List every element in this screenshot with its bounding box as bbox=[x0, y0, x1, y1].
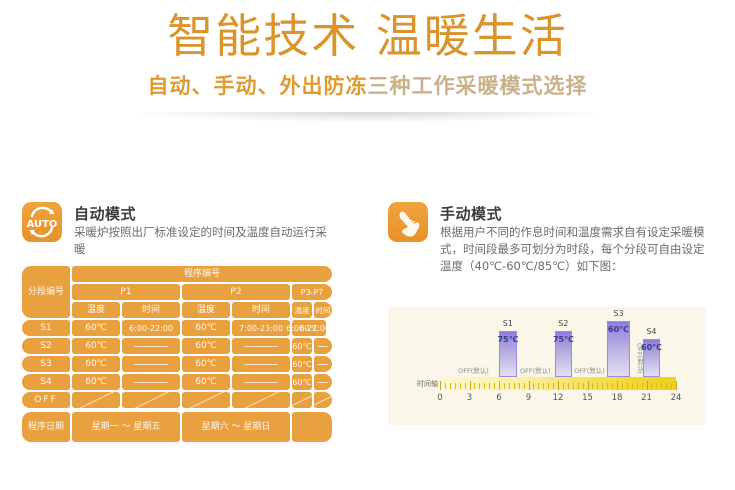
manual-mode-title: 手动模式 bbox=[440, 203, 502, 224]
axis-tick bbox=[583, 383, 584, 389]
table-cell-empty bbox=[314, 374, 332, 390]
axis-tick bbox=[563, 383, 564, 389]
header-shadow-divider bbox=[135, 112, 605, 122]
axis-tick bbox=[474, 383, 475, 389]
chart-bar-value: 60℃ bbox=[608, 325, 629, 376]
table-cell-slashed bbox=[232, 392, 290, 408]
axis-tick bbox=[543, 383, 544, 389]
table-header-program-group: 程序编号 bbox=[72, 266, 332, 282]
axis-tick bbox=[592, 383, 593, 389]
table-cell-empty bbox=[314, 338, 332, 354]
chart-bar-s1: S175℃ bbox=[499, 331, 517, 377]
axis-tick bbox=[661, 383, 662, 389]
auto-schedule-table: 分段编号 程序编号 P1 P2 P3-P7 温度 时间 温度 时间 温度 时间 … bbox=[22, 266, 332, 444]
chart-bar-s2: S275℃ bbox=[555, 331, 572, 377]
axis-tick bbox=[568, 383, 569, 389]
table-cell-slashed bbox=[122, 392, 180, 408]
table-footer-weekend: 星期六 ～ 星期日 bbox=[182, 412, 290, 442]
table-subheader-time-p3p7: 时间 bbox=[314, 302, 332, 318]
table-row-label-s1: S1 bbox=[22, 320, 70, 336]
table-cell: 6:00-22:00 bbox=[272, 320, 332, 336]
chart-bar-value: 75℃ bbox=[497, 335, 518, 376]
axis-tick-label: 18 bbox=[612, 393, 623, 403]
table-row: S4 60℃ 60℃ 60℃ bbox=[22, 374, 332, 390]
table-row: S3 60℃ 60℃ 60℃ bbox=[22, 356, 332, 372]
table-header-row-top: 分段编号 程序编号 bbox=[22, 266, 332, 282]
axis-tick bbox=[627, 383, 628, 389]
table-cell-empty bbox=[314, 356, 332, 372]
chart-bar-s4: S460℃ bbox=[643, 339, 661, 377]
table-subheader-time-p1: 时间 bbox=[122, 302, 180, 318]
axis-tick bbox=[479, 383, 480, 389]
axis-tick bbox=[494, 383, 495, 389]
chart-bar-name: S3 bbox=[613, 309, 623, 318]
axis-tick bbox=[607, 383, 608, 389]
axis-tick bbox=[588, 381, 589, 390]
subtitle-normal: 三种工作采暖模式选择 bbox=[368, 74, 588, 98]
table-header-row-programs: P1 P2 P3-P7 bbox=[22, 284, 332, 300]
table-cell: 60℃ bbox=[292, 374, 312, 390]
axis-tick bbox=[529, 381, 530, 390]
table-cell-slashed bbox=[292, 392, 312, 408]
subtitle-highlight: 自动、手动、外出防冻 bbox=[148, 74, 368, 98]
table-row: OFF bbox=[22, 392, 332, 408]
table-subheader-temp-p2: 温度 bbox=[182, 302, 230, 318]
table-row-label-off: OFF bbox=[22, 392, 70, 408]
chart-axis-label: 时间轴 bbox=[394, 377, 438, 390]
axis-tick bbox=[489, 383, 490, 389]
table-cell: 6:00-22:00 bbox=[122, 320, 180, 336]
axis-tick bbox=[651, 383, 652, 389]
table-footer-weekdays: 星期一 ～ 星期五 bbox=[72, 412, 180, 442]
table-row: S2 60℃ 60℃ 60℃ bbox=[22, 338, 332, 354]
axis-tick bbox=[465, 383, 466, 389]
axis-tick bbox=[632, 383, 633, 389]
axis-tick-label: 24 bbox=[671, 393, 682, 403]
axis-tick-label: 9 bbox=[526, 393, 531, 403]
axis-tick bbox=[597, 383, 598, 389]
axis-tick-label: 15 bbox=[582, 393, 593, 403]
chart-off-label: OFF(默认) bbox=[574, 365, 605, 375]
axis-tick bbox=[509, 383, 510, 389]
hand-pointer-icon bbox=[388, 202, 428, 242]
axis-tick bbox=[637, 383, 638, 389]
table-header-p3p7: P3-P7 bbox=[292, 284, 332, 300]
axis-tick bbox=[460, 383, 461, 389]
table-subheader-temp-p1: 温度 bbox=[72, 302, 120, 318]
axis-tick bbox=[514, 383, 515, 389]
axis-tick bbox=[558, 381, 559, 390]
manual-mode-description: 根据用户不同的作息时间和温度需求自有设定采暖模式，时间段最多可划分为时段，每个分… bbox=[440, 224, 710, 275]
table-cell-empty bbox=[232, 374, 290, 390]
table-row-label-s4: S4 bbox=[22, 374, 70, 390]
chart-off-label: OFF(默认) bbox=[520, 365, 551, 375]
axis-tick bbox=[440, 381, 441, 390]
axis-tick bbox=[519, 383, 520, 389]
axis-tick-label: 0 bbox=[437, 393, 442, 403]
auto-circular-arrows-icon: AUTO bbox=[22, 202, 62, 242]
axis-tick bbox=[602, 383, 603, 389]
table-subheader-temp-p3p7: 温度 bbox=[292, 302, 312, 318]
table-header-p2: P2 bbox=[182, 284, 290, 300]
table-cell: 60℃ bbox=[182, 338, 230, 354]
axis-tick bbox=[573, 383, 574, 389]
table-cell-slashed bbox=[182, 392, 230, 408]
axis-tick bbox=[533, 383, 534, 389]
chart-bar-s3: S360℃ bbox=[607, 321, 630, 377]
auto-mode-description: 采暖炉按照出厂标准设定的时间及温度自动运行采暖 bbox=[74, 224, 332, 258]
axis-tick bbox=[647, 381, 648, 390]
table-subheader-time-p2: 时间 bbox=[232, 302, 290, 318]
table-cell-slashed bbox=[72, 392, 120, 408]
chart-time-axis-bar bbox=[440, 377, 676, 390]
table-cell: 60℃ bbox=[72, 374, 120, 390]
axis-tick bbox=[484, 383, 485, 389]
axis-tick-label: 12 bbox=[553, 393, 564, 403]
axis-tick bbox=[617, 381, 618, 390]
axis-tick bbox=[612, 383, 613, 389]
chart-bar-name: S4 bbox=[646, 327, 656, 336]
axis-tick-label: 3 bbox=[467, 393, 472, 403]
table-cell: 60℃ bbox=[72, 320, 120, 336]
axis-tick-label: 6 bbox=[496, 393, 501, 403]
table-row: S1 60℃ 6:00-22:00 60℃ 7:00-23:00 60℃ 6:0… bbox=[22, 320, 332, 336]
page-header: 智能技术 温暖生活 自动、手动、外出防冻三种工作采暖模式选择 bbox=[0, 0, 735, 118]
table-row-label-s3: S3 bbox=[22, 356, 70, 372]
table-cell: 60℃ bbox=[292, 338, 312, 354]
table-row-label-s2: S2 bbox=[22, 338, 70, 354]
axis-tick bbox=[499, 381, 500, 390]
table-cell-empty bbox=[232, 356, 290, 372]
axis-tick bbox=[656, 383, 657, 389]
axis-tick bbox=[524, 383, 525, 389]
table-cell: 60℃ bbox=[72, 338, 120, 354]
axis-tick bbox=[671, 383, 672, 389]
svg-text:AUTO: AUTO bbox=[27, 219, 58, 230]
chart-bar-name: S1 bbox=[503, 319, 513, 328]
axis-tick bbox=[455, 383, 456, 389]
page-subtitle: 自动、手动、外出防冻三种工作采暖模式选择 bbox=[0, 72, 735, 100]
table-footer-label: 程序日期 bbox=[22, 412, 70, 442]
axis-tick bbox=[470, 381, 471, 390]
chart-off-label: OFF(默认) bbox=[458, 365, 489, 375]
axis-tick bbox=[676, 381, 677, 390]
axis-tick bbox=[642, 383, 643, 389]
table-cell: 60℃ bbox=[182, 320, 230, 336]
table-cell: 60℃ bbox=[182, 356, 230, 372]
axis-tick bbox=[622, 383, 623, 389]
table-footer-empty bbox=[292, 412, 332, 442]
chart-bar-name: S2 bbox=[558, 319, 568, 328]
chart-off-label: OFF(默认) bbox=[635, 343, 645, 374]
table-header-p1: P1 bbox=[72, 284, 180, 300]
table-cell: 60℃ bbox=[72, 356, 120, 372]
table-cell-empty bbox=[232, 338, 290, 354]
table-cell: 60℃ bbox=[292, 356, 312, 372]
axis-tick bbox=[538, 383, 539, 389]
table-cell-empty bbox=[122, 374, 180, 390]
axis-tick bbox=[666, 383, 667, 389]
table-footer-row: 程序日期 星期一 ～ 星期五 星期六 ～ 星期日 bbox=[22, 412, 332, 442]
axis-tick bbox=[548, 383, 549, 389]
table-header-row-sub: 温度 时间 温度 时间 温度 时间 bbox=[22, 302, 332, 318]
auto-mode-title: 自动模式 bbox=[74, 203, 136, 224]
manual-schedule-chart: 时间轴 03691215182124S175℃S275℃S360℃S460℃OF… bbox=[388, 307, 706, 425]
table-cell-slashed bbox=[314, 392, 332, 408]
table-cell-empty bbox=[122, 356, 180, 372]
axis-tick bbox=[553, 383, 554, 389]
chart-bar-value: 75℃ bbox=[553, 335, 574, 376]
axis-tick bbox=[450, 383, 451, 389]
table-cell: 60℃ bbox=[182, 374, 230, 390]
axis-tick bbox=[504, 383, 505, 389]
axis-tick bbox=[578, 383, 579, 389]
page-title: 智能技术 温暖生活 bbox=[0, 8, 735, 64]
axis-tick bbox=[445, 383, 446, 389]
table-cell-empty bbox=[122, 338, 180, 354]
axis-tick-label: 21 bbox=[641, 393, 652, 403]
